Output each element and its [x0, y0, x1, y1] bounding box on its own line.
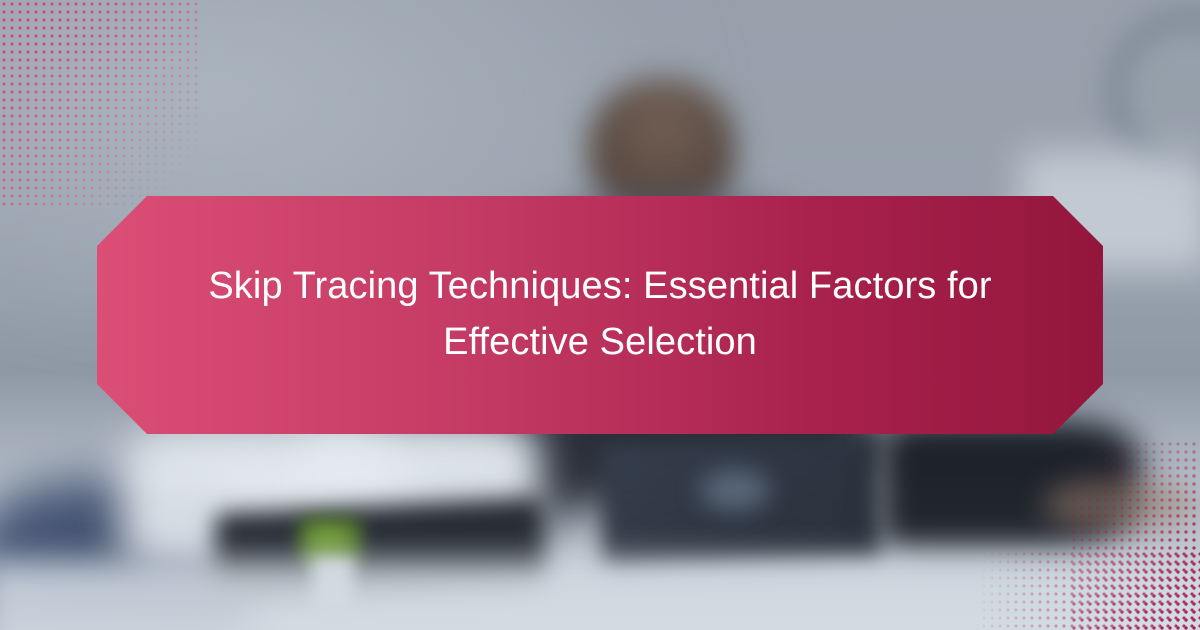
og-share-card: Skip Tracing Techniques: Essential Facto…	[0, 0, 1200, 630]
page-title: Skip Tracing Techniques: Essential Facto…	[97, 259, 1103, 371]
top-left-dot-pattern-extension	[0, 0, 200, 60]
title-banner: Skip Tracing Techniques: Essential Facto…	[97, 196, 1103, 434]
bottom-right-dot-pattern-extension	[980, 550, 1200, 630]
